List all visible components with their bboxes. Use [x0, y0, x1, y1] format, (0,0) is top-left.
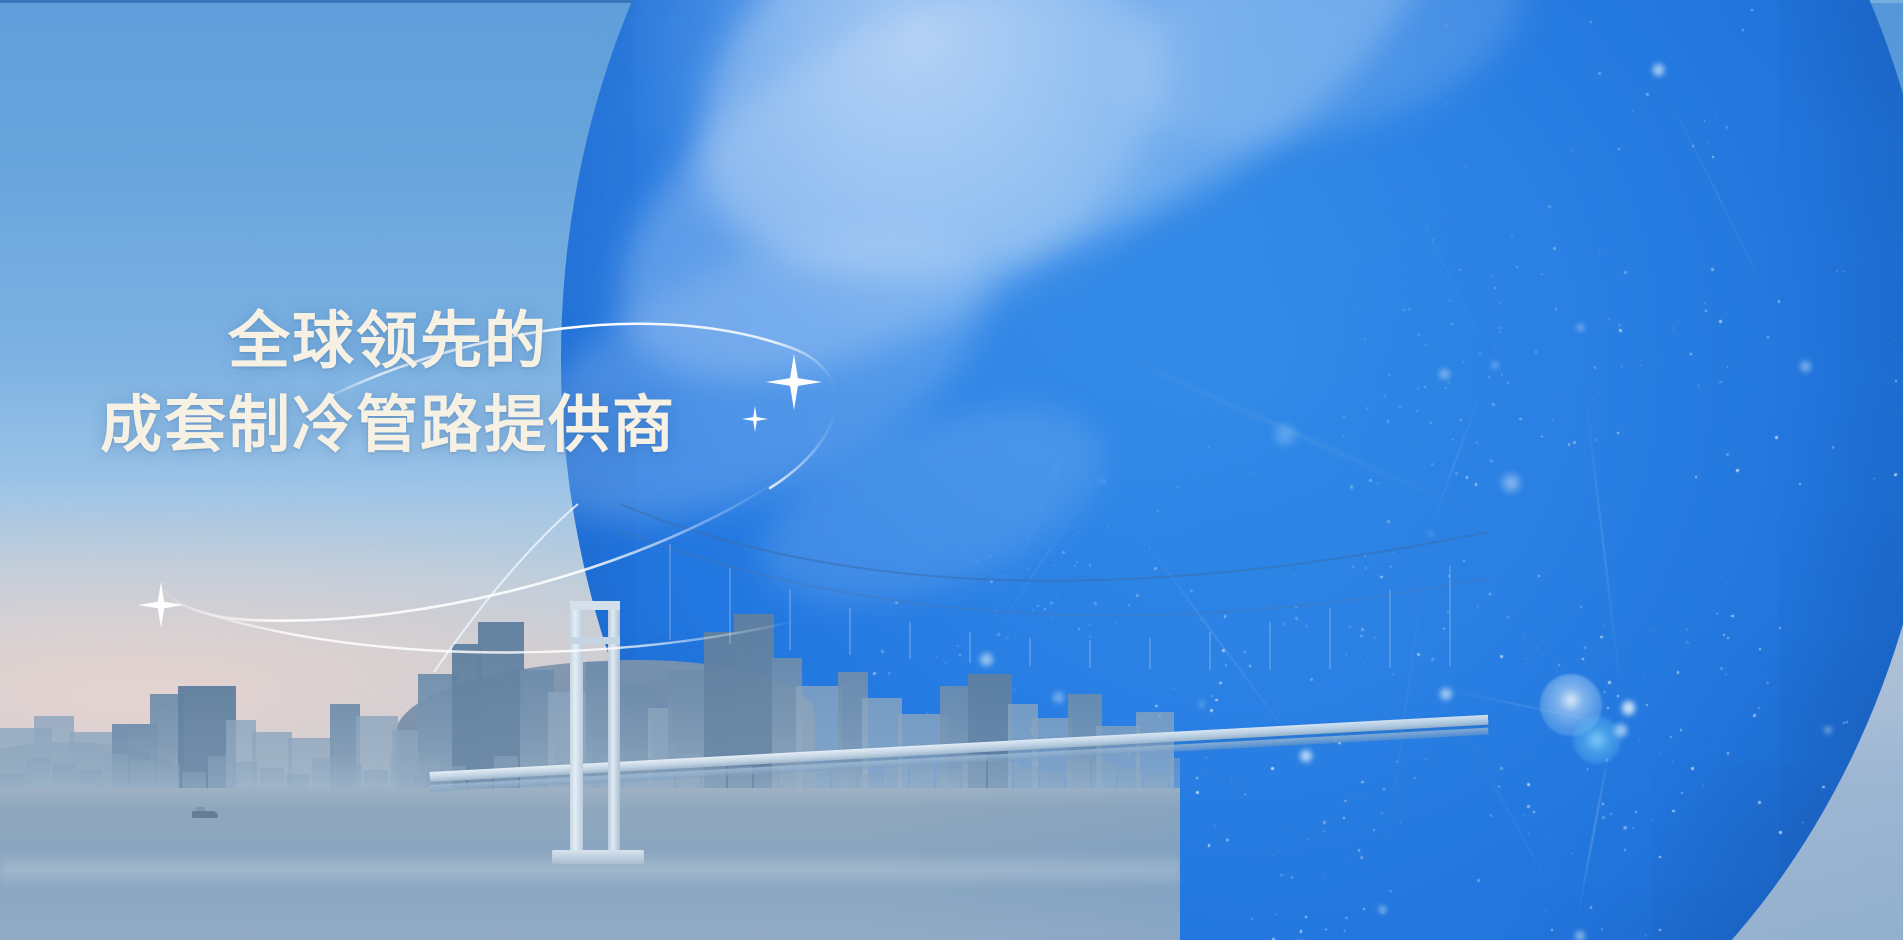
building [156, 766, 180, 790]
building [78, 770, 102, 790]
suspension-bridge [430, 522, 1490, 822]
bridge-tower-crossbeam-top [570, 601, 620, 610]
headline: 全球领先的 成套制冷管路提供商 [0, 300, 820, 468]
building [338, 764, 362, 790]
building [208, 756, 232, 790]
building [260, 768, 284, 790]
building [52, 764, 76, 790]
hero-banner: 全球领先的 成套制冷管路提供商 [0, 0, 1903, 940]
top-edge-line [0, 0, 1903, 3]
building [390, 754, 414, 790]
building [234, 762, 258, 790]
headline-line-1: 全球领先的 [0, 300, 820, 384]
headline-line-2: 成套制冷管路提供商 [0, 384, 820, 468]
building [26, 758, 50, 790]
building [104, 754, 128, 790]
boat [192, 811, 218, 818]
bridge-tower-base [552, 850, 644, 864]
building [364, 770, 388, 790]
building [312, 758, 336, 790]
building [130, 760, 154, 790]
bridge-tower-crossbeam-mid [570, 637, 620, 644]
